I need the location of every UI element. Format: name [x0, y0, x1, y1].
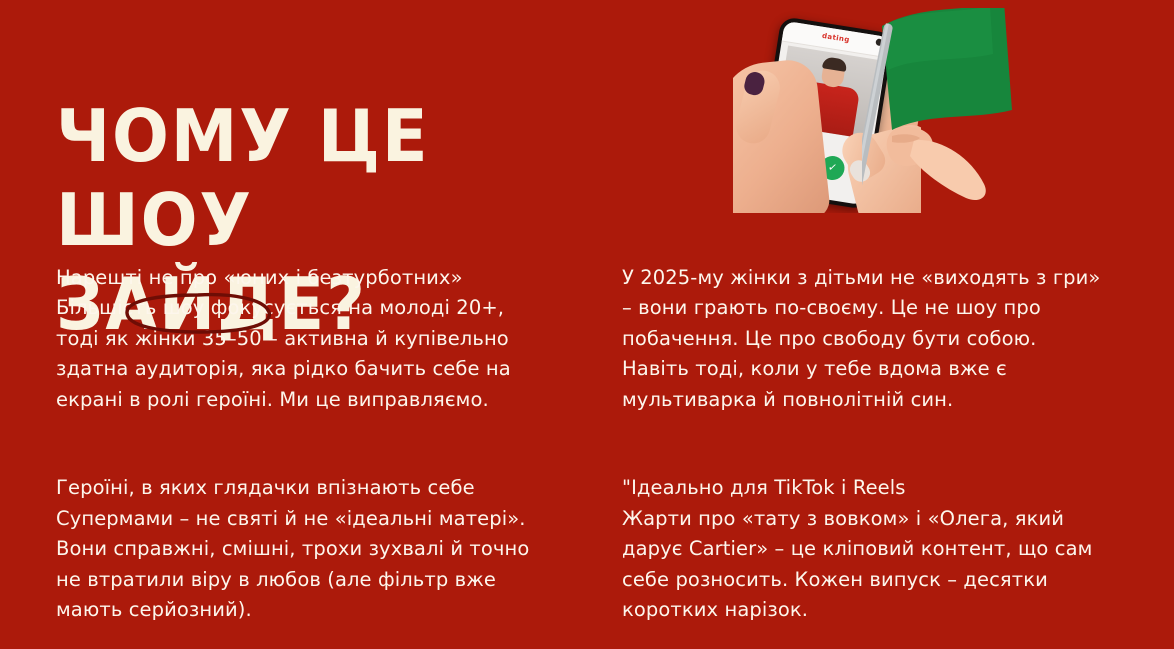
paragraph-heroines: Героїні, в яких глядачки впізнають себе …: [56, 473, 536, 626]
paragraph-audience: Нарешті не про «юних і безтурботних» Біл…: [56, 263, 536, 416]
text-column-right: У 2025-му жінки з дітьми не «виходять з …: [622, 243, 1112, 645]
slide-canvas: ЧОМУ ЦЕ ШОУ ЗАЙДЕ? Нарешті не про «юних …: [0, 0, 1174, 649]
text-column-left: Нарешті не про «юних і безтурботних» Біл…: [56, 243, 536, 645]
photo-hand-with-green-flag: [862, 8, 1062, 214]
paragraph-social: "Ідеально для TikTok і Reels Жарти про «…: [622, 473, 1112, 626]
dating-app-logo: dating: [821, 32, 850, 44]
flag-forearm: [910, 140, 986, 200]
paragraph-2025: У 2025-му жінки з дітьми не «виходять з …: [622, 263, 1112, 416]
